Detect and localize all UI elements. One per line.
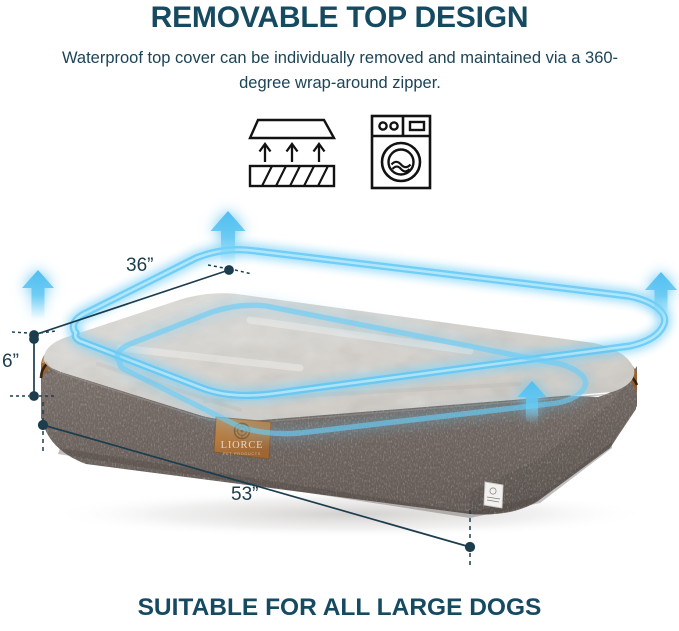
page-title: REMOVABLE TOP DESIGN xyxy=(0,1,679,35)
page-subtitle: Waterproof top cover can be individually… xyxy=(60,46,620,96)
product-feature-panel: REMOVABLE TOP DESIGN Waterproof top cove… xyxy=(0,0,679,631)
lift-arrow-left xyxy=(22,270,54,318)
removable-cover-icon xyxy=(248,116,344,193)
feature-icon-row xyxy=(248,114,434,190)
brand-patch: LIORCE PET PRODUCTS xyxy=(214,417,271,459)
brand-patch-text: LIORCE xyxy=(221,440,264,451)
care-tag xyxy=(484,482,503,508)
product-illustration: LIORCE PET PRODUCTS xyxy=(0,196,679,586)
brand-patch-tagline: PET PRODUCTS xyxy=(223,452,261,456)
washing-machine-icon xyxy=(370,114,432,195)
lift-arrow-top xyxy=(211,211,246,264)
page-footer-title: SUITABLE FOR ALL LARGE DOGS xyxy=(0,594,679,622)
lift-arrow-right xyxy=(645,272,677,318)
